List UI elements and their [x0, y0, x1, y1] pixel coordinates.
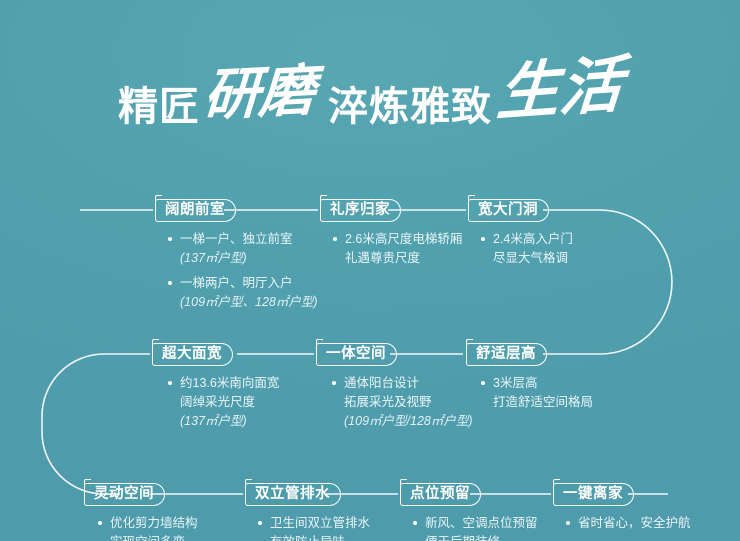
- card-title-dianweiyuliu[interactable]: 点位预留: [400, 483, 481, 506]
- bullet-dot-icon: [168, 281, 172, 285]
- bullet-main: 卫生间双立管排水: [270, 514, 370, 533]
- bullet-dot-icon: [332, 381, 336, 385]
- bullet-dot-icon: [98, 521, 102, 525]
- bullet-sub2: (137㎡户型): [180, 412, 279, 431]
- list-item: 省时省心，安全护航: [566, 514, 691, 533]
- headline-part3: 淬炼雅致: [328, 74, 492, 132]
- list-item: 优化剪力墙结构 实现空间多变: [98, 514, 198, 541]
- bullet-dot-icon: [566, 521, 570, 525]
- card-title-lingdongkongjian[interactable]: 灵动空间: [84, 483, 165, 506]
- bullet-main: 一梯一户、独立前室: [180, 230, 318, 249]
- card-title-kuandamendong[interactable]: 宽大门洞: [468, 199, 549, 222]
- poster-canvas: 精匠研磨淬炼雅致生活 阔朗前室 一梯一户、独立前室 (137㎡户型): [0, 0, 740, 541]
- bullet-sub: 实现空间多变: [110, 533, 198, 541]
- bullet-dot-icon: [168, 381, 172, 385]
- bullet-sub: 礼遇尊贵尺度: [345, 249, 462, 268]
- card-title-text: 阔朗前室: [165, 202, 225, 218]
- bullet-dot-icon: [481, 381, 485, 385]
- card-bullets-yitikongjian: 通体阳台设计 拓展采光及视野 (109㎡户型/128㎡户型): [332, 374, 473, 431]
- bullet-main: 约13.6米南向面宽: [180, 374, 279, 393]
- card-title-shushicenggao[interactable]: 舒适层高: [466, 343, 547, 366]
- card-bullets-yijianlijia: 省时省心，安全护航: [566, 514, 691, 533]
- bullet-sub: 尽显大气格调: [493, 249, 573, 268]
- list-item: 通体阳台设计 拓展采光及视野 (109㎡户型/128㎡户型): [332, 374, 473, 431]
- page-title: 精匠研磨淬炼雅致生活: [0, 36, 740, 126]
- card-title-text: 宽大门洞: [478, 202, 538, 218]
- bullet-main: 通体阳台设计: [344, 374, 473, 393]
- bullet-sub: 拓展采光及视野: [344, 393, 473, 412]
- bullet-dot-icon: [413, 521, 417, 525]
- card-title-shuangliguanpaishui[interactable]: 双立管排水: [245, 483, 341, 506]
- list-item: 卫生间双立管排水 有效防止异味: [258, 514, 370, 541]
- bullet-sub: (109㎡户型、128㎡户型): [180, 293, 318, 312]
- card-title-text: 超大面宽: [162, 346, 222, 362]
- bullet-main: 新风、空调点位预留: [425, 514, 538, 533]
- card-title-text: 灵动空间: [94, 486, 154, 502]
- bullet-dot-icon: [481, 237, 485, 241]
- card-title-text: 舒适层高: [476, 346, 536, 362]
- bullet-sub: 打造舒适空间格局: [493, 393, 593, 412]
- card-title-text: 双立管排水: [255, 486, 330, 502]
- card-title-text: 礼序归家: [330, 202, 390, 218]
- card-title-chaodamiankuan[interactable]: 超大面宽: [152, 343, 233, 366]
- bullet-main: 3米层高: [493, 374, 593, 393]
- bullet-main: 省时省心，安全护航: [578, 514, 691, 533]
- bullet-dot-icon: [333, 237, 337, 241]
- list-item: 2.4米高入户门 尽显大气格调: [481, 230, 573, 268]
- list-item: 新风、空调点位预留 便于后期装修: [413, 514, 538, 541]
- card-title-yijianlijia[interactable]: 一键离家: [553, 483, 634, 506]
- card-bullets-kuandamendong: 2.4米高入户门 尽显大气格调: [481, 230, 573, 268]
- card-title-text: 点位预留: [410, 486, 470, 502]
- card-bullets-shushicenggao: 3米层高 打造舒适空间格局: [481, 374, 593, 412]
- headline-part4: 生活: [494, 34, 625, 132]
- list-item: 约13.6米南向面宽 阔绰采光尺度 (137㎡户型): [168, 374, 279, 431]
- bullet-sub: 便于后期装修: [425, 533, 538, 541]
- bullet-dot-icon: [258, 521, 262, 525]
- card-title-kuolangqianshi[interactable]: 阔朗前室: [155, 199, 236, 222]
- card-bullets-dianweiyuliu: 新风、空调点位预留 便于后期装修: [413, 514, 538, 541]
- card-bullets-shuangliguanpaishui: 卫生间双立管排水 有效防止异味: [258, 514, 370, 541]
- headline-part1: 精匠: [118, 74, 200, 132]
- bullet-main: 优化剪力墙结构: [110, 514, 198, 533]
- card-title-text: 一键离家: [563, 486, 623, 502]
- list-item: 一梯两户、明厅入户 (109㎡户型、128㎡户型): [168, 274, 318, 312]
- card-title-lixuguijia[interactable]: 礼序归家: [320, 199, 401, 222]
- bullet-sub2: (109㎡户型/128㎡户型): [344, 412, 473, 431]
- bullet-sub: 阔绰采光尺度: [180, 393, 279, 412]
- line-left-loop: [42, 354, 104, 494]
- bullet-dot-icon: [168, 237, 172, 241]
- list-item: 一梯一户、独立前室 (137㎡户型): [168, 230, 318, 268]
- card-title-yitikongjian[interactable]: 一体空间: [316, 343, 397, 366]
- bullet-main: 2.4米高入户门: [493, 230, 573, 249]
- card-title-text: 一体空间: [326, 346, 386, 362]
- bullet-main: 一梯两户、明厅入户: [180, 274, 318, 293]
- list-item: 2.6米高尺度电梯轿厢 礼遇尊贵尺度: [333, 230, 462, 268]
- headline-part2: 研磨: [202, 45, 317, 132]
- bullet-sub: (137㎡户型): [180, 249, 318, 268]
- card-bullets-kuolangqianshi: 一梯一户、独立前室 (137㎡户型) 一梯两户、明厅入户 (109㎡户型、128…: [168, 230, 318, 312]
- card-bullets-lingdongkongjian: 优化剪力墙结构 实现空间多变: [98, 514, 198, 541]
- bullet-sub: 有效防止异味: [270, 533, 370, 541]
- list-item: 3米层高 打造舒适空间格局: [481, 374, 593, 412]
- card-bullets-chaodamiankuan: 约13.6米南向面宽 阔绰采光尺度 (137㎡户型): [168, 374, 279, 431]
- card-bullets-lixuguijia: 2.6米高尺度电梯轿厢 礼遇尊贵尺度: [333, 230, 462, 268]
- bullet-main: 2.6米高尺度电梯轿厢: [345, 230, 462, 249]
